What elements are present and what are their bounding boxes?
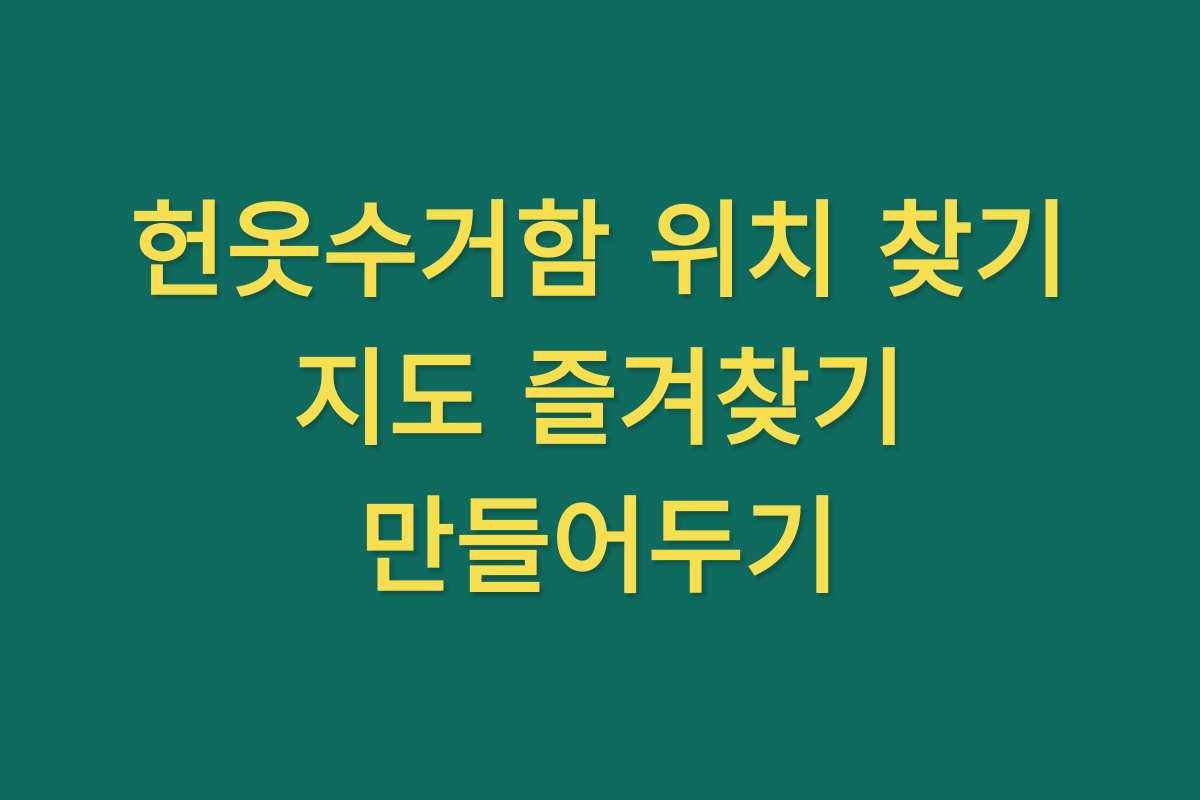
headline-text: 헌옷수거함 위치 찾기 지도 즐겨찾기 만들어두기 <box>90 178 1110 621</box>
text-banner: 헌옷수거함 위치 찾기 지도 즐겨찾기 만들어두기 <box>0 0 1200 800</box>
